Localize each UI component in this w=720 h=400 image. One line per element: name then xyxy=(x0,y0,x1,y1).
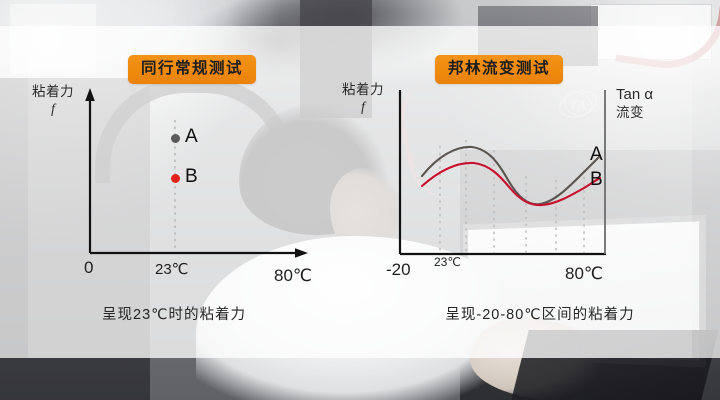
right-tick-start: -20 xyxy=(386,260,411,280)
slide-canvas: 同行常规测试 邦林流变测试 粘着力 f A B 0 23℃ 80℃ xyxy=(0,0,720,400)
right-y-axis-label-cn: 粘着力 xyxy=(332,82,394,99)
right-y-axis-label: 粘着力 f xyxy=(332,82,394,116)
left-y-axis-label: 粘着力 f xyxy=(20,84,86,118)
badge-rheology-test: 邦林流变测试 xyxy=(435,55,563,84)
chart-left-svg xyxy=(18,88,328,288)
right-tick-end: 80℃ xyxy=(565,264,603,284)
right-y2-axis-label: Tan α 流变 xyxy=(616,86,676,122)
data-point-a xyxy=(171,134,180,143)
chart-rheology: 粘着力 f Tan α 流变 A B -20 23℃ 80℃ xyxy=(338,84,668,289)
badge-conventional-test: 同行常规测试 xyxy=(128,55,256,84)
data-point-a-label: A xyxy=(185,126,198,148)
curve-b-label: B xyxy=(590,169,603,191)
left-tick-mid: 23℃ xyxy=(155,260,189,278)
caption-rheology: 呈现-20-80℃区间的粘着力 xyxy=(360,303,720,324)
right-y2-axis-label-main: Tan α xyxy=(616,86,676,105)
right-y2-axis-label-sub: 流变 xyxy=(616,105,676,122)
left-y-axis-label-cn: 粘着力 xyxy=(20,84,86,101)
data-point-b-label: B xyxy=(185,166,198,188)
curve-a-label: A xyxy=(590,144,603,166)
left-tick-end: 80℃ xyxy=(274,266,312,286)
data-point-b xyxy=(171,174,180,183)
left-y-axis-label-sym: f xyxy=(20,101,86,118)
chart-conventional: 粘着力 f A B 0 23℃ 80℃ xyxy=(18,88,328,288)
ta-logo-ellipses xyxy=(556,86,600,126)
right-y-axis-label-sym: f xyxy=(332,99,394,116)
right-tick-mid: 23℃ xyxy=(434,255,461,269)
caption-conventional: 呈现23℃时的粘着力 xyxy=(0,303,348,324)
left-tick-origin: 0 xyxy=(84,258,93,278)
ta-logo-watermark: TA xyxy=(556,86,600,126)
